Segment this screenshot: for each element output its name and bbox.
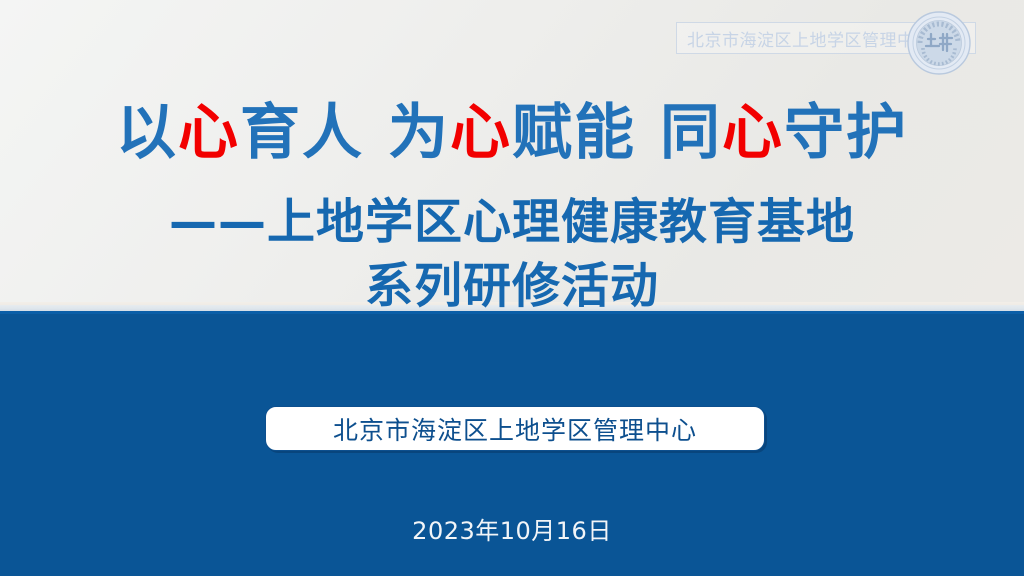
title-seg-4: 为	[388, 98, 450, 168]
shangdi-school-district-seal-icon	[906, 10, 972, 76]
presentation-slide: 北京市海淀区上地学区管理中心 以心育人为心赋能同心守护 ——上地学区心理健康教育…	[0, 0, 1024, 576]
title-seg-6: 赋能	[512, 98, 636, 168]
title-seg-0: 以	[116, 98, 178, 168]
slide-date: 2023年10月16日	[0, 511, 1024, 546]
title-seg-1: 心	[178, 98, 240, 168]
title-seg-8: 同	[660, 98, 722, 168]
title-seg-5: 心	[450, 98, 512, 168]
title-seg-10: 守护	[784, 98, 908, 168]
title-seg-9: 心	[722, 98, 784, 168]
title-seg-2: 育人	[240, 98, 364, 168]
organization-name: 北京市海淀区上地学区管理中心	[333, 411, 697, 447]
organization-plaque: 北京市海淀区上地学区管理中心	[265, 406, 765, 451]
slide-subtitle-line-2: 系列研修活动	[0, 262, 1024, 310]
slide-subtitle-line-1: ——上地学区心理健康教育基地	[0, 198, 1024, 246]
slide-main-title: 以心育人为心赋能同心守护	[0, 103, 1024, 163]
header-watermark-text: 北京市海淀区上地学区管理中心	[677, 26, 932, 51]
